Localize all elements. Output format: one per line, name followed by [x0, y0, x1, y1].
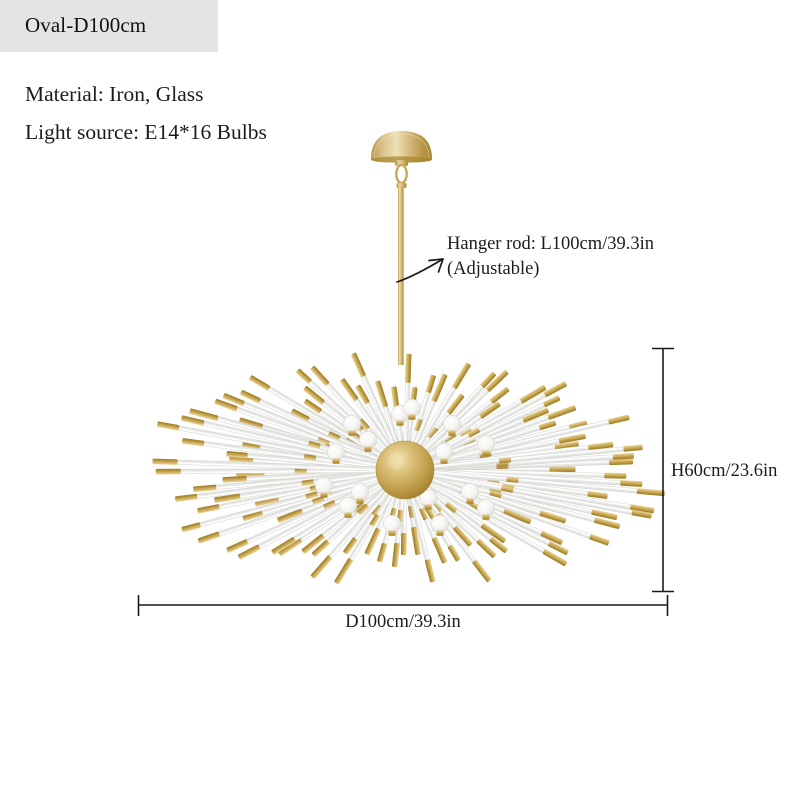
dimension-height-label: H60cm/23.6in — [671, 461, 777, 482]
chain-link — [396, 165, 406, 188]
hanger-rod-annotation-line2: (Adjustable) — [447, 257, 654, 282]
chandelier-svg — [0, 0, 800, 800]
ceiling-canopy-dome — [371, 131, 432, 166]
dimension-width-label: D100cm/39.3in — [0, 612, 800, 633]
product-illustration — [0, 0, 800, 800]
center-hub-sphere — [376, 441, 434, 499]
hanger-rod-annotation-line1: Hanger rod: L100cm/39.3in — [447, 232, 654, 257]
hanger-rod — [398, 187, 403, 365]
hanger-rod-annotation: Hanger rod: L100cm/39.3in (Adjustable) — [447, 232, 654, 282]
hanger-rod-leader-arrow — [397, 259, 443, 282]
